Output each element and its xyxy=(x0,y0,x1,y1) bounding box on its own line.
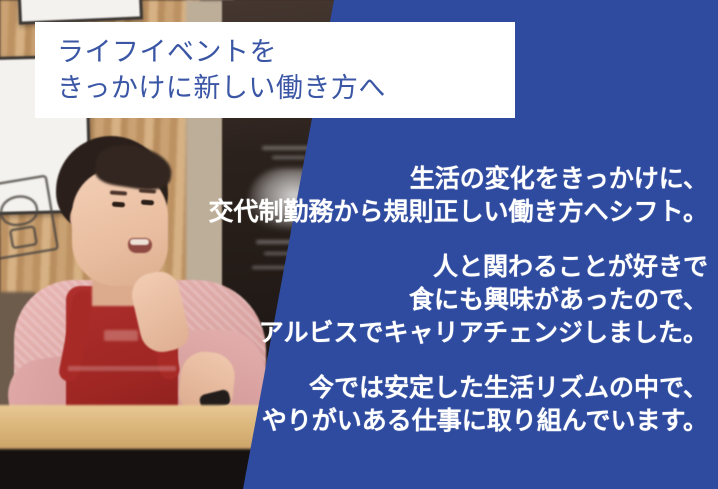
banner-root: ライフイベントを きっかけに新しい働き方へ 生活の変化をきっかけに、 交代制勤務… xyxy=(0,0,718,489)
person-eye-left xyxy=(112,202,125,208)
headline-line-1: ライフイベントを xyxy=(57,34,515,70)
paragraph-1: 生活の変化をきっかけに、 交代制勤務から規則正しい働き方へシフト。 xyxy=(148,163,708,229)
testimonial-copy: 生活の変化をきっかけに、 交代制勤務から規則正しい働き方へシフト。 人と関わるこ… xyxy=(148,163,708,438)
paragraph-2: 人と関わることが好きで 食にも興味があったので、 アルビスでキャリアチェンジしま… xyxy=(148,251,708,350)
paragraph-2-line-3: アルビスでキャリアチェンジしました。 xyxy=(148,317,708,350)
paragraph-1-line-1: 生活の変化をきっかけに、 xyxy=(148,163,708,196)
paragraph-3-line-2: やりがいある仕事に取り組んでいます。 xyxy=(148,405,708,438)
paragraph-3: 今では安定した生活リズムの中で、 やりがいある仕事に取り組んでいます。 xyxy=(148,372,708,438)
person-teeth xyxy=(130,239,149,245)
headline-line-2: きっかけに新しい働き方へ xyxy=(57,70,515,106)
headline-box: ライフイベントを きっかけに新しい働き方へ xyxy=(35,22,515,118)
apron-logo xyxy=(104,330,138,341)
paragraph-2-line-1: 人と関わることが好きで xyxy=(148,251,708,284)
paragraph-2-line-2: 食にも興味があったので、 xyxy=(148,284,708,317)
paragraph-3-line-1: 今では安定した生活リズムの中で、 xyxy=(148,372,708,405)
paragraph-1-line-2: 交代制勤務から規則正しい働き方へシフト。 xyxy=(148,196,708,229)
